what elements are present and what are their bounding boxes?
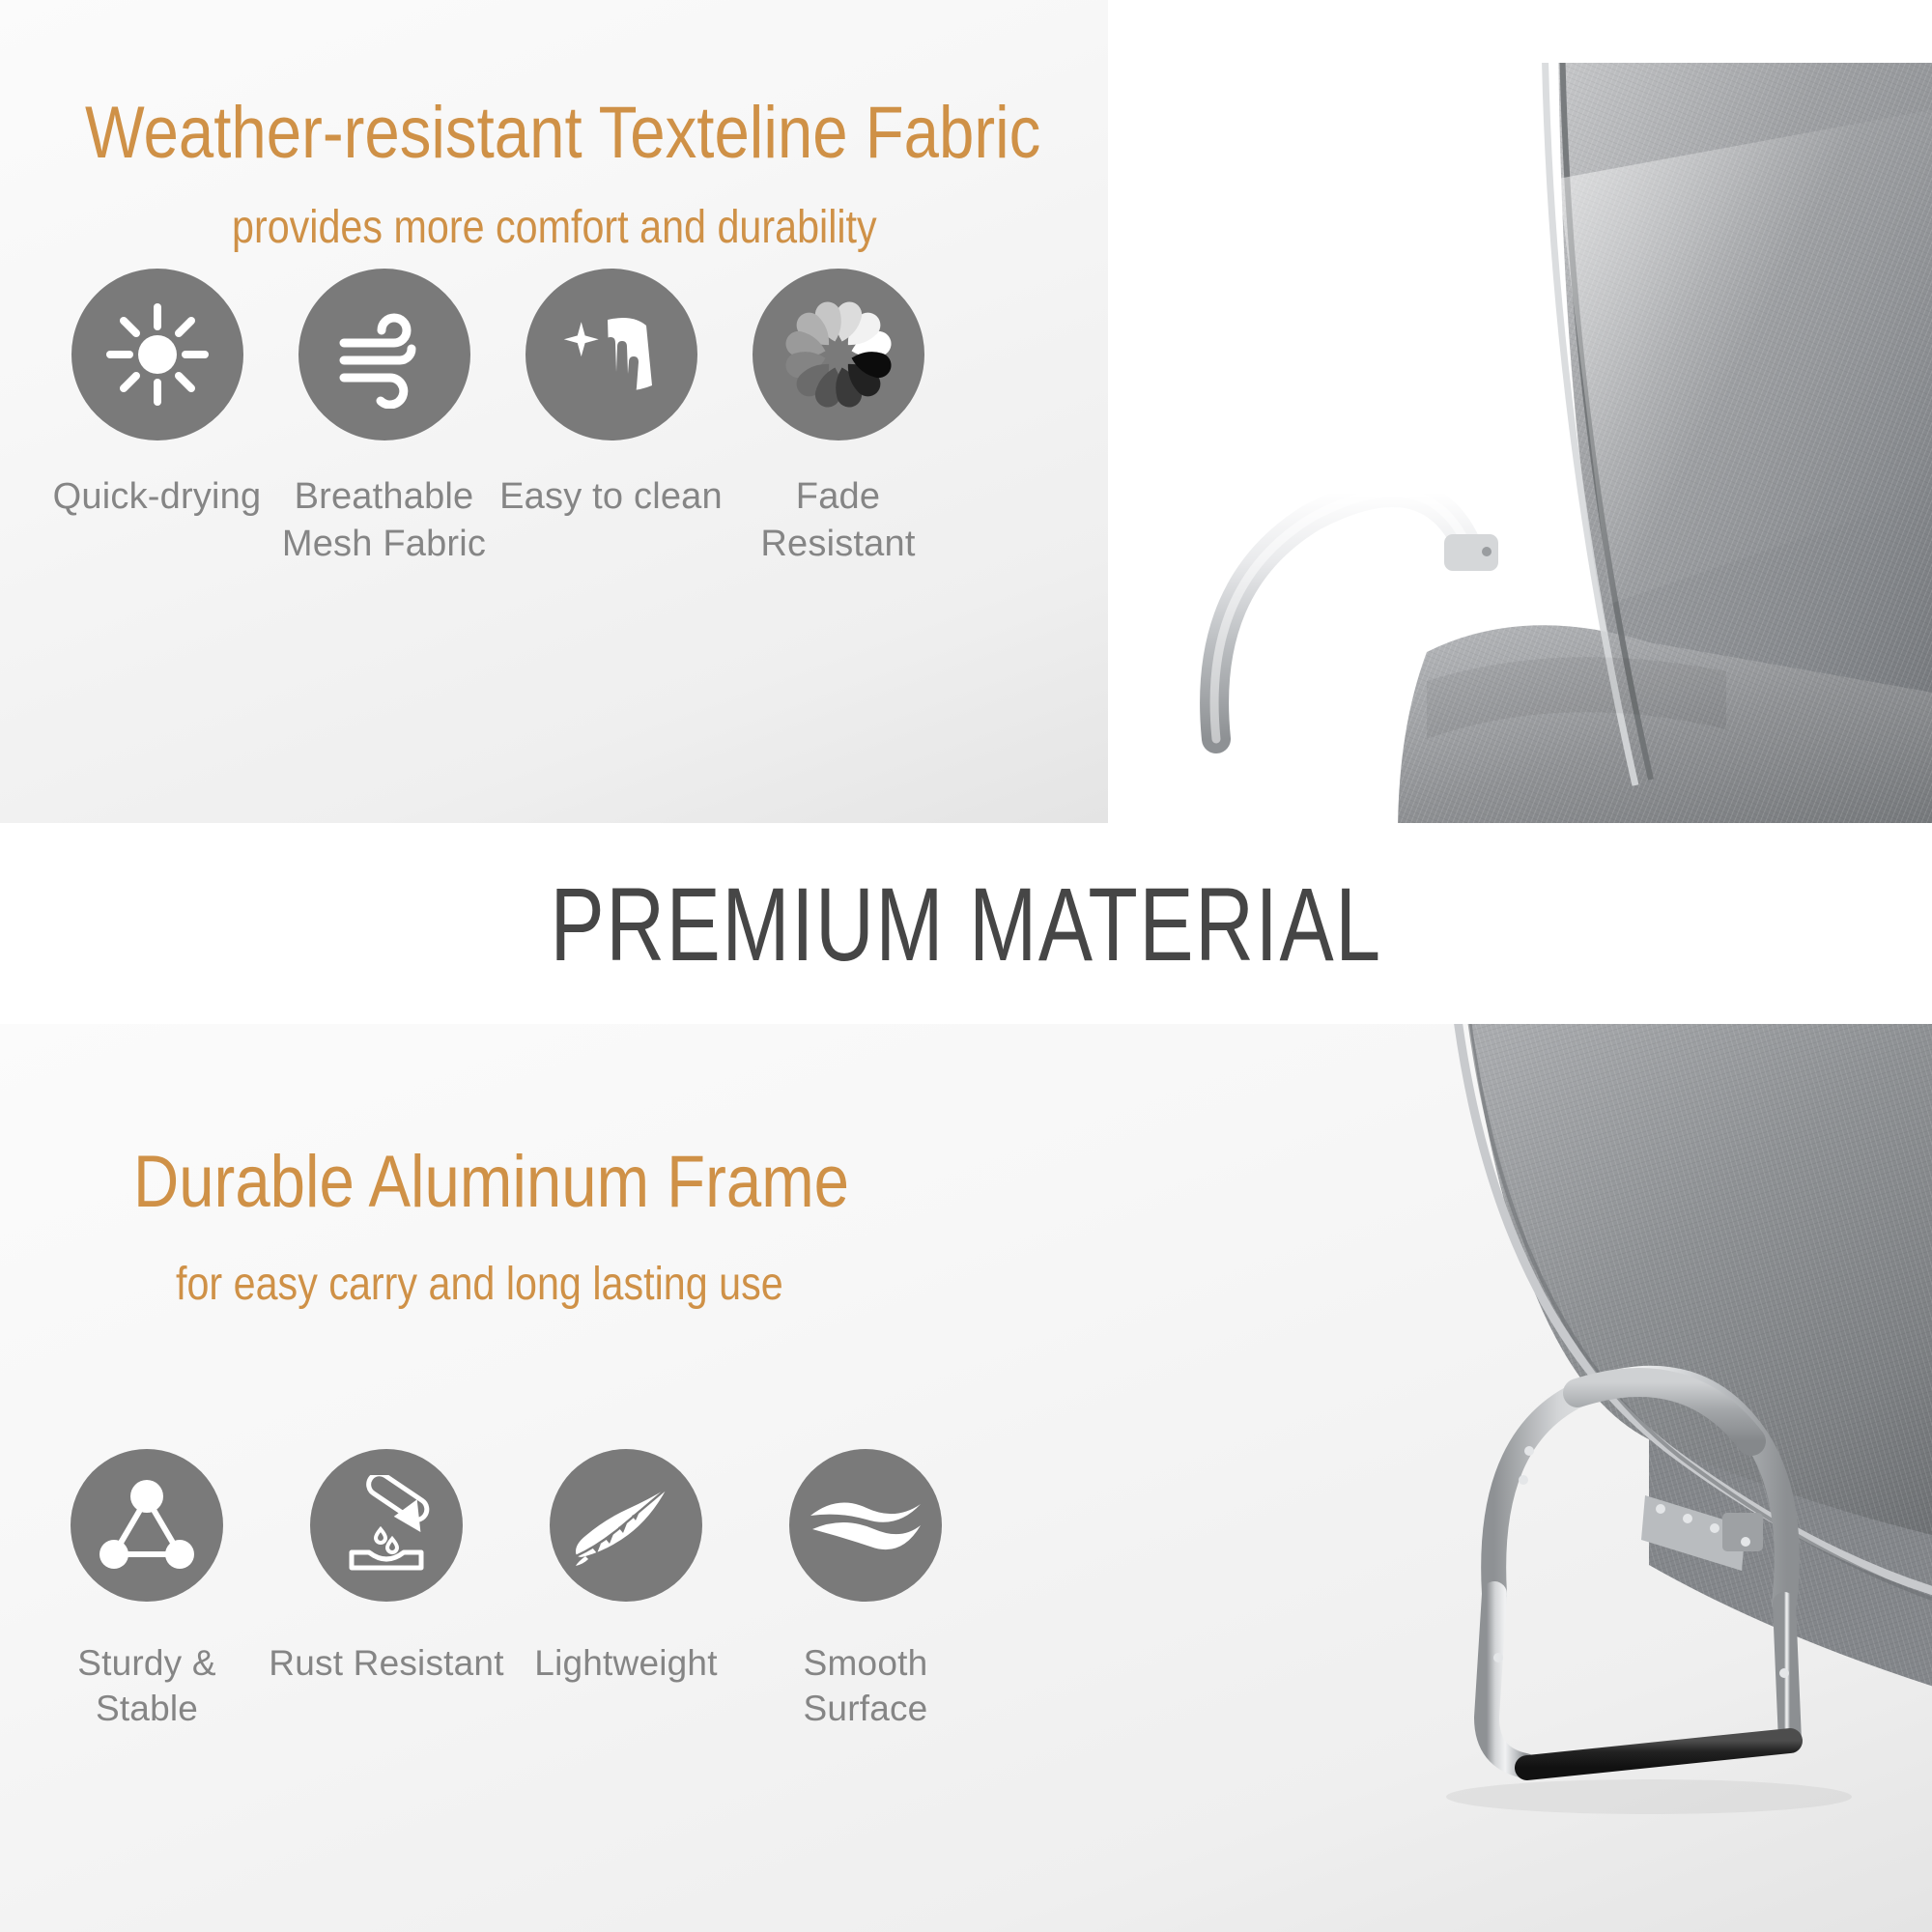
- infographic-canvas: Weather-resistant Texteline Fabric provi…: [0, 0, 1932, 1932]
- frame-section-subheading: for easy carry and long lasting use: [176, 1258, 783, 1311]
- banner-title: PREMIUM MATERIAL: [550, 864, 1381, 984]
- sun-icon: [71, 269, 243, 440]
- feature-lightweight[interactable]: Lightweight: [506, 1449, 746, 1732]
- armrest-illustration: [1108, 1024, 1932, 1932]
- feature-label: Sturdy & Stable: [27, 1640, 267, 1732]
- feature-fade-resistant[interactable]: Fade Resistant: [724, 269, 952, 567]
- product-photo-lounger-backrest: [1108, 63, 1932, 826]
- fabric-section-subheading: provides more comfort and durability: [232, 201, 877, 254]
- feature-rust-resistant[interactable]: Rust Resistant: [267, 1449, 506, 1732]
- feature-label: Rust Resistant: [269, 1640, 503, 1686]
- test-tube-drip-icon: [310, 1449, 463, 1602]
- product-photo-aluminum-armrest: [1108, 1024, 1932, 1932]
- lounger-illustration: [1108, 63, 1932, 826]
- feature-smooth-surface[interactable]: Smooth Surface: [746, 1449, 985, 1732]
- smooth-waves-icon: [789, 1449, 942, 1602]
- feature-quick-drying[interactable]: Quick-drying: [43, 269, 270, 567]
- color-fade-wheel-icon: [753, 269, 924, 440]
- feature-label: Easy to clean: [499, 473, 723, 521]
- feature-breathable-mesh-fabric[interactable]: Breathable Mesh Fabric: [270, 269, 497, 567]
- feature-label: Lightweight: [534, 1640, 717, 1686]
- feature-label: Fade Resistant: [724, 473, 952, 567]
- triangle-nodes-icon: [71, 1449, 223, 1602]
- feature-easy-to-clean[interactable]: Easy to clean: [497, 269, 724, 567]
- fabric-section-heading: Weather-resistant Texteline Fabric: [85, 91, 1040, 175]
- feature-sturdy-and-stable[interactable]: Sturdy & Stable: [27, 1449, 267, 1732]
- frame-feature-row: Sturdy & Stable Rust Resistant: [27, 1449, 1051, 1732]
- feature-label: Breathable Mesh Fabric: [282, 473, 486, 567]
- frame-section-heading: Durable Aluminum Frame: [133, 1140, 849, 1224]
- premium-material-band: PREMIUM MATERIAL: [0, 823, 1932, 1024]
- wind-icon: [298, 269, 470, 440]
- feather-icon: [550, 1449, 702, 1602]
- fabric-feature-row: Quick-drying Breathable Mesh Fabric: [43, 269, 1067, 567]
- feature-label: Smooth Surface: [746, 1640, 985, 1732]
- wipe-hand-sparkle-icon: [526, 269, 697, 440]
- feature-label: Quick-drying: [53, 473, 262, 521]
